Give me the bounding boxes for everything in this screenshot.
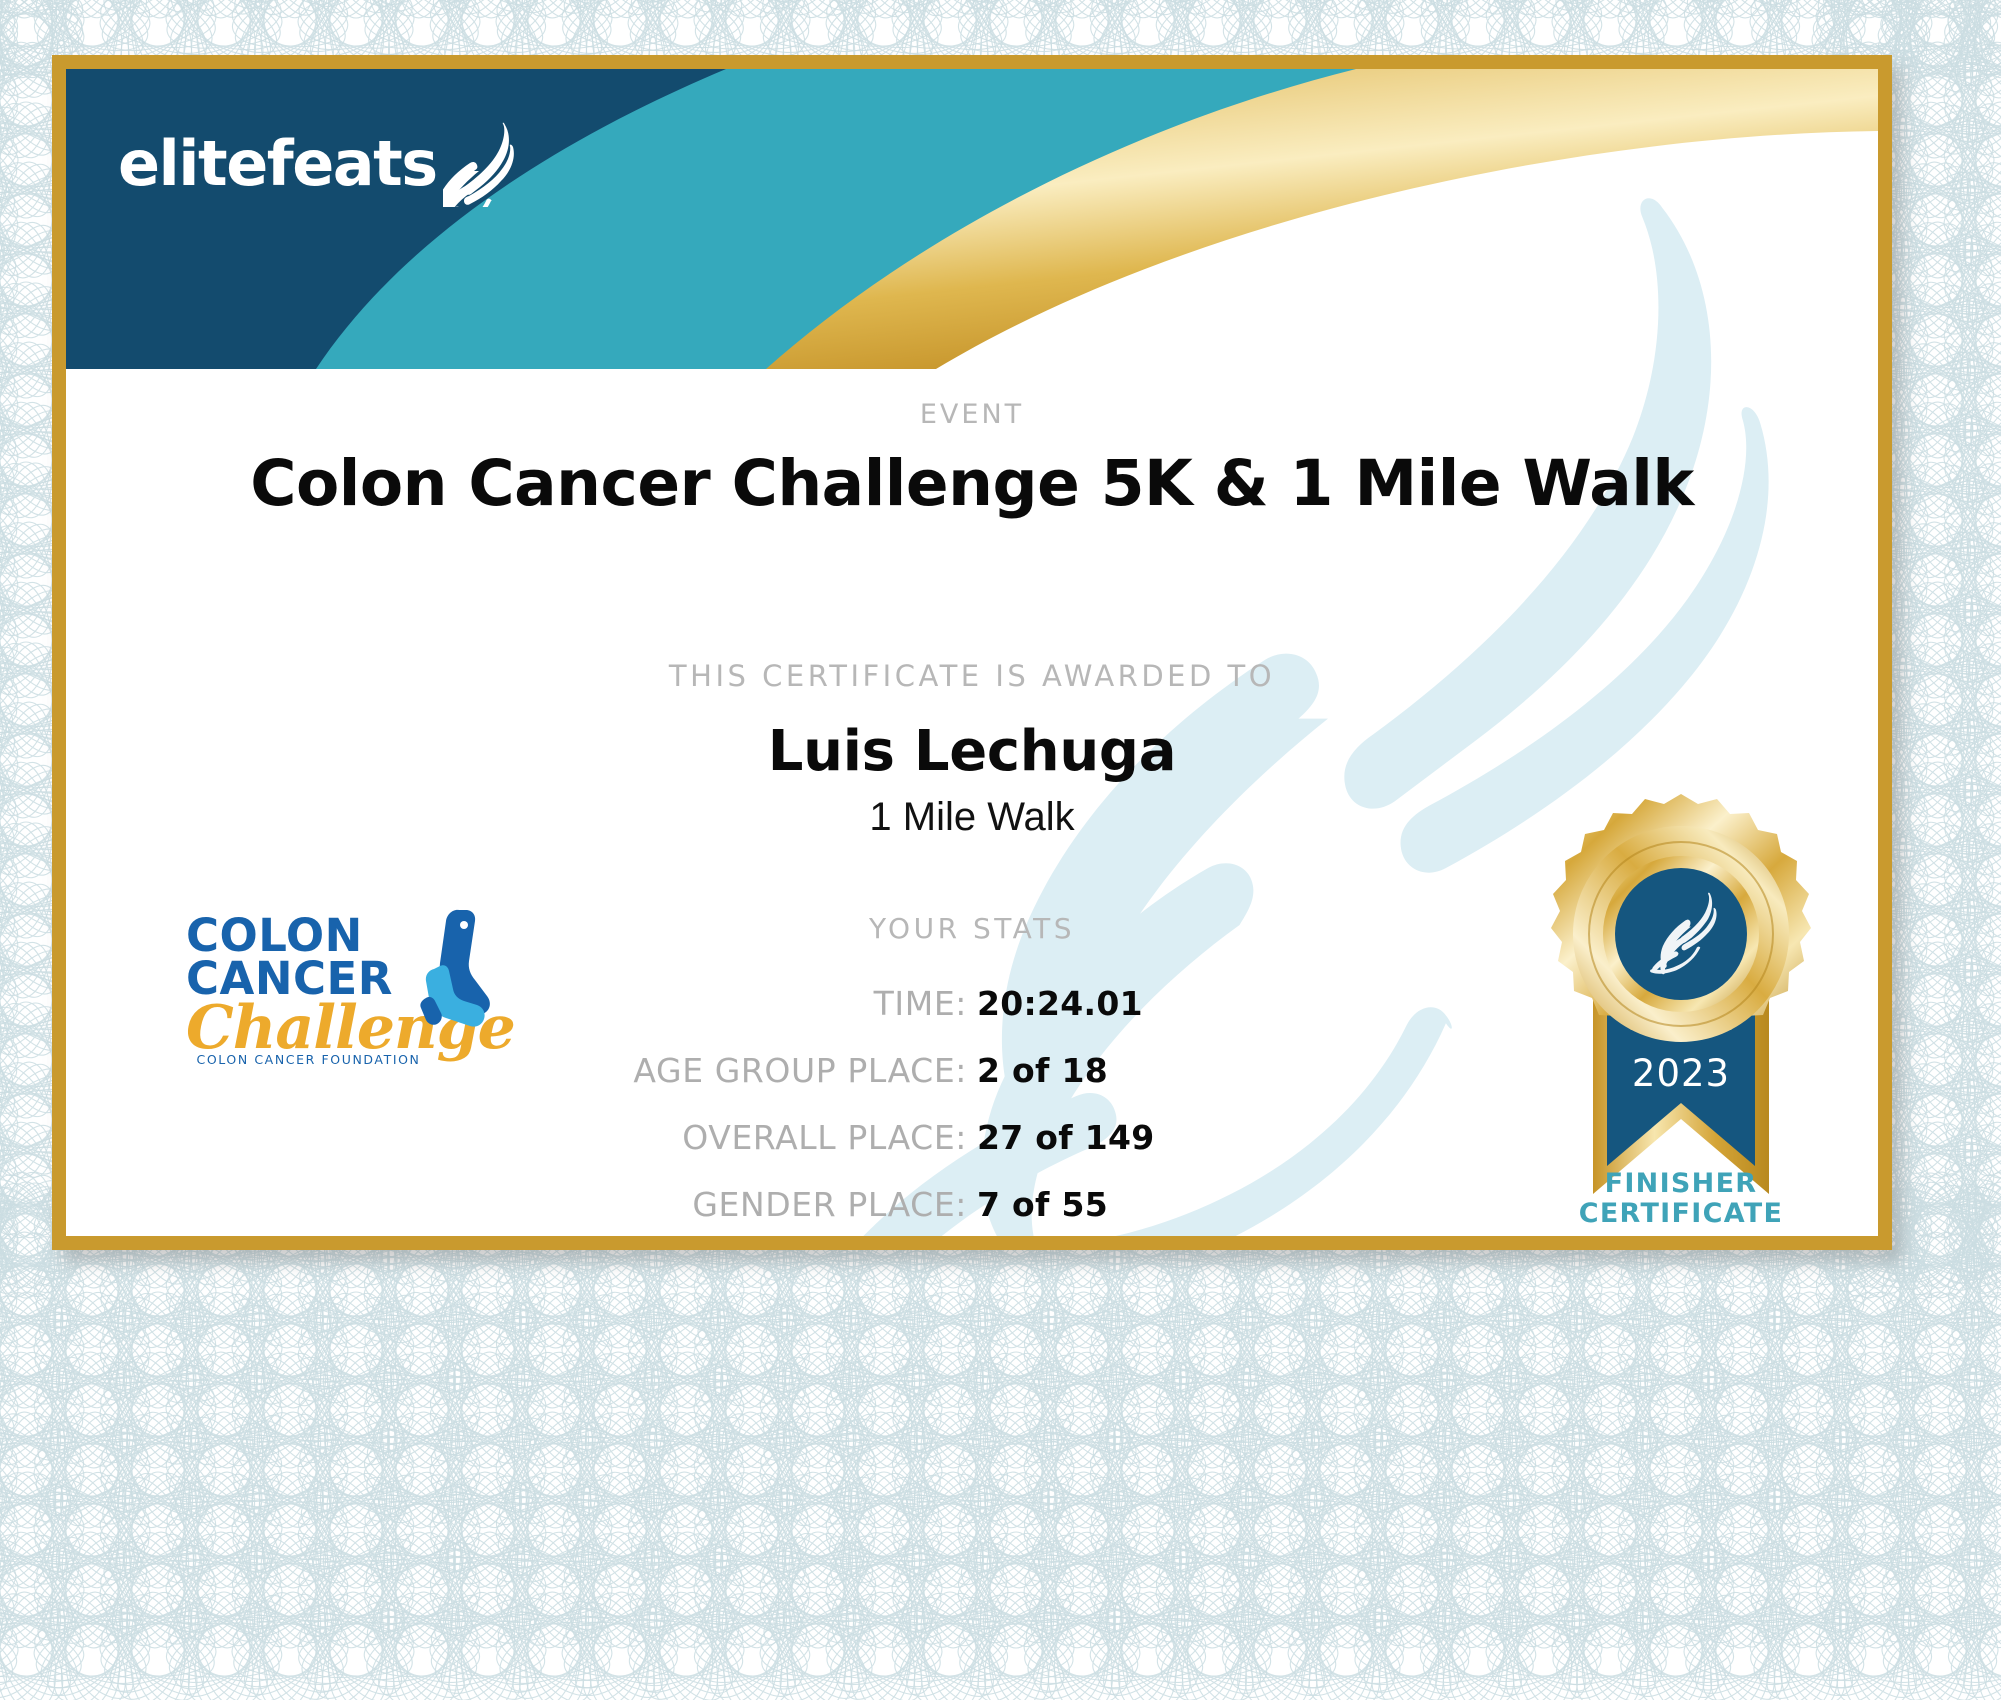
brand-name: elitefeats	[118, 133, 437, 195]
certificate-body: elitefeats EVENT Colon Cancer Challenge …	[66, 69, 1878, 1236]
recipient-name: Luis Lechuga	[66, 719, 1878, 784]
badge-caption-line2: CERTIFICATE	[1521, 1199, 1841, 1229]
sponsor-foundation-text: COLON CANCER FOUNDATION	[186, 1052, 431, 1067]
colon-cancer-challenge-logo: COLON CANCER Challenge COLON CANCER FOUN…	[186, 914, 486, 1094]
event-label: EVENT	[66, 399, 1878, 430]
header-decoration	[66, 69, 1878, 369]
certificate-frame: elitefeats EVENT Colon Cancer Challenge …	[52, 55, 1892, 1250]
stat-label: GENDER PLACE:	[587, 1185, 967, 1224]
badge-year: 2023	[1632, 1052, 1730, 1095]
winged-foot-icon	[443, 121, 521, 207]
stat-label: TIME:	[587, 984, 967, 1023]
badge-medal	[1551, 794, 1811, 1042]
stat-value: 2 of 18	[977, 1051, 1357, 1090]
running-shoe-icon	[402, 906, 494, 1034]
stat-value: 7 of 55	[977, 1185, 1357, 1224]
stat-label: AGE GROUP PLACE:	[587, 1051, 967, 1090]
elitefeats-logo: elitefeats	[118, 121, 521, 207]
stat-value: 27 of 149	[977, 1118, 1357, 1157]
badge-caption-line1: FINISHER	[1521, 1169, 1841, 1199]
badge-caption: FINISHER CERTIFICATE	[1521, 1169, 1841, 1229]
stat-value: 20:24.01	[977, 984, 1357, 1023]
awarded-to-label: THIS CERTIFICATE IS AWARDED TO	[66, 659, 1878, 693]
event-title: Colon Cancer Challenge 5K & 1 Mile Walk	[66, 447, 1878, 520]
certificate-page: elitefeats EVENT Colon Cancer Challenge …	[0, 0, 2001, 1700]
stat-label: OVERALL PLACE:	[587, 1118, 967, 1157]
